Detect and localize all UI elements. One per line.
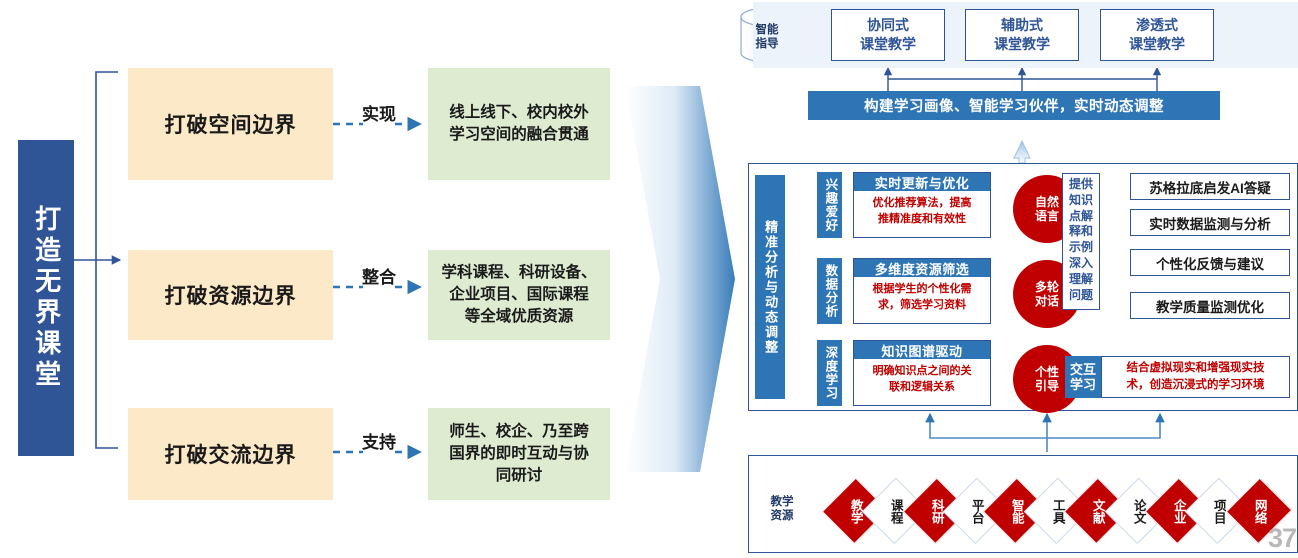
- teaching-mode-card-1[interactable]: 协同式 课堂教学: [831, 9, 945, 61]
- mode-card-2-line1: 辅助式: [1001, 16, 1043, 35]
- branch-card-3-title: 知识图谱驱动: [854, 341, 990, 359]
- relation-label-3: 支持: [346, 428, 412, 453]
- branch-card-1-title: 实时更新与优化: [854, 173, 990, 191]
- vr-tag-line2: 学习: [1070, 377, 1096, 392]
- big-transition-arrow: [625, 86, 735, 472]
- slide-canvas: 打造无界课堂 打破空间边界 实现 线上线下、校内校外 学习空间的融合贯通 打破资…: [0, 0, 1298, 558]
- branch-card-1[interactable]: 实时更新与优化 优化推荐算法，提高 推精准度和有效性: [853, 172, 991, 238]
- midpanel-to-banner-arrow: [1014, 141, 1030, 163]
- teaching-mode-card-2[interactable]: 辅助式 课堂教学: [965, 9, 1079, 61]
- branch-card-1-body: 优化推荐算法，提高 推精准度和有效性: [854, 191, 990, 233]
- vr-description-box: 结合虚拟现实和增强现实技 术，创造沉浸式的学习环境: [1101, 356, 1290, 398]
- mode-card-3-line1: 渗透式: [1136, 16, 1178, 35]
- guidance-source-label: 智能 指导: [741, 22, 793, 52]
- vr-tag-line1: 交互: [1070, 362, 1096, 377]
- output-box-2[interactable]: 实时数据监测与分析: [1130, 209, 1290, 236]
- outcome-box-1[interactable]: 线上线下、校内校外 学习空间的融合贯通: [428, 68, 610, 180]
- resource-item-1-label: 教学: [849, 498, 862, 523]
- branch-card-3-body: 明确知识点之间的关 联和逻辑关系: [854, 359, 990, 401]
- relation-label-2: 整合: [346, 263, 412, 288]
- resource-to-mid-connectors: [930, 414, 1160, 452]
- resource-diamond-row: 教学 课程 科研 平台 智能 工具 文献 论文 企业 项目 网络: [832, 485, 1282, 537]
- outcome-box-2[interactable]: 学科课程、科研设备、 企业项目、国际课程 等全域优质资源: [428, 250, 610, 340]
- resource-item-11-label: 网络: [1252, 498, 1265, 523]
- mode-card-1-line2: 课堂教学: [860, 35, 916, 54]
- resource-item-7-label: 文献: [1091, 498, 1104, 523]
- resource-item-3-label: 科研: [929, 498, 942, 523]
- output-box-1[interactable]: 苏格拉底启发AI答疑: [1130, 173, 1290, 200]
- boundary-box-1[interactable]: 打破空间边界: [128, 68, 333, 180]
- capability-3-line2: 引导: [1035, 379, 1059, 393]
- capability-1-line1: 自然: [1035, 195, 1059, 209]
- mode-card-1-line1: 协同式: [867, 16, 909, 35]
- branch-card-3[interactable]: 知识图谱驱动 明确知识点之间的关 联和逻辑关系: [853, 340, 991, 406]
- teaching-mode-card-3[interactable]: 渗透式 课堂教学: [1100, 9, 1214, 61]
- resource-item-6-label: 工具: [1050, 498, 1063, 523]
- main-title: 打造无界课堂: [18, 140, 74, 456]
- capability-2-line2: 对话: [1035, 294, 1059, 308]
- resource-item-10-label: 项目: [1212, 498, 1225, 523]
- branch-card-2-title: 多维度资源筛选: [854, 259, 990, 277]
- interactive-learning-tag[interactable]: 交互 学习: [1065, 356, 1101, 398]
- capability-3-line1: 个性: [1035, 365, 1059, 379]
- branch-tag-1[interactable]: 兴趣爱好: [817, 172, 842, 238]
- brace-connector: [74, 72, 120, 448]
- resource-item-2-label: 课程: [889, 498, 902, 523]
- banner-to-cards-connectors: [888, 68, 1157, 91]
- branch-tag-3[interactable]: 深度学习: [817, 340, 842, 406]
- boundary-box-3[interactable]: 打破交流边界: [128, 408, 333, 500]
- knowledge-note: 提供知识点解释和示例深入理解问题: [1062, 173, 1100, 310]
- relation-arrows: [333, 124, 420, 452]
- output-box-3[interactable]: 个性化反馈与建议: [1130, 249, 1290, 276]
- resource-item-5-label: 智能: [1010, 498, 1023, 523]
- resource-source-label: 教学 资源: [758, 494, 806, 524]
- mode-card-2-line2: 课堂教学: [994, 35, 1050, 54]
- mode-card-3-line2: 课堂教学: [1129, 35, 1185, 54]
- capability-1-line2: 语言: [1035, 209, 1059, 223]
- resource-item-9-label: 企业: [1171, 498, 1184, 523]
- learning-profile-banner: 构建学习画像、智能学习伙伴，实时动态调整: [808, 91, 1220, 120]
- page-number: 37: [1268, 523, 1296, 554]
- relation-label-1: 实现: [346, 100, 412, 125]
- output-box-4[interactable]: 教学质量监测优化: [1130, 292, 1290, 319]
- outcome-box-3[interactable]: 师生、校企、乃至跨 国界的即时互动与协 同研讨: [428, 408, 610, 500]
- boundary-box-2[interactable]: 打破资源边界: [128, 250, 333, 340]
- branch-tag-2[interactable]: 数据分析: [817, 258, 842, 324]
- capability-2-line1: 多轮: [1035, 280, 1059, 294]
- branch-card-2-body: 根据学生的个性化需 求，筛选学习资料: [854, 277, 990, 319]
- resource-item-8-label: 论文: [1131, 498, 1144, 523]
- branch-card-2[interactable]: 多维度资源筛选 根据学生的个性化需 求，筛选学习资料: [853, 258, 991, 324]
- resource-item-4-label: 平台: [970, 498, 983, 523]
- engine-label: 精准分析与动态调整: [755, 175, 785, 399]
